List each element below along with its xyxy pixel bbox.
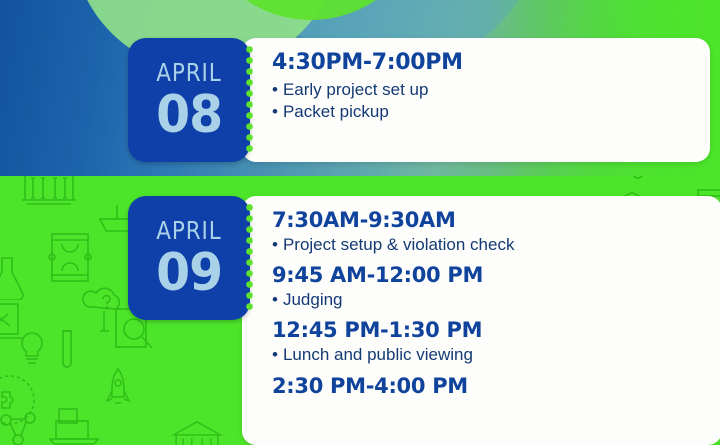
time-block: 2:30 PM-4:00 PM [272,374,704,399]
time-range: 12:45 PM-1:30 PM [272,318,704,343]
activity-list: Project setup & violation check [272,234,704,256]
time-block: 9:45 AM-12:00 PM Judging [272,263,704,311]
date-badge-april-08: APRIL 08 [128,38,250,162]
list-item: Early project set up [272,79,692,101]
badge-month-label: APRIL [156,60,221,85]
list-item: Judging [272,289,704,311]
time-range: 9:45 AM-12:00 PM [272,263,704,288]
schedule-row-april-09: APRIL 09 7:30AM-9:30AM Project setup & v… [128,196,720,445]
list-item: Project setup & violation check [272,234,704,256]
list-item: Packet pickup [272,101,692,123]
activity-list: Judging [272,289,704,311]
time-block: 4:30PM-7:00PM Early project set up Packe… [272,50,692,124]
laptop-icon [48,405,100,445]
time-range: 7:30AM-9:30AM [272,208,704,233]
perforation-dots [246,204,253,312]
event-schedule-poster: APRIL 08 4:30PM-7:00PM Early project set… [0,0,720,445]
time-block: 7:30AM-9:30AM Project setup & violation … [272,208,704,256]
schedule-card-april-08: 4:30PM-7:00PM Early project set up Packe… [242,38,710,162]
time-range: 2:30 PM-4:00 PM [272,374,704,399]
badge-month-label: APRIL [156,218,221,243]
schedule-row-april-08: APRIL 08 4:30PM-7:00PM Early project set… [128,38,710,162]
activity-list: Early project set up Packet pickup [272,79,692,124]
flask-icon [0,255,28,300]
date-badge-april-09: APRIL 09 [128,196,250,320]
time-range: 4:30PM-7:00PM [272,50,692,76]
perforation-dots [246,46,253,154]
hourglass-icon [44,230,96,285]
schedule-card-april-09: 7:30AM-9:30AM Project setup & violation … [242,196,720,445]
badge-day-label: 08 [156,89,222,141]
badge-day-label: 09 [156,247,222,299]
molecule-icon [0,410,44,445]
activity-list: Lunch and public viewing [272,344,704,366]
time-block: 12:45 PM-1:30 PM Lunch and public viewin… [272,318,704,366]
list-item: Lunch and public viewing [272,344,704,366]
test-tube-icon [59,328,75,370]
microscope-icon [0,300,28,344]
